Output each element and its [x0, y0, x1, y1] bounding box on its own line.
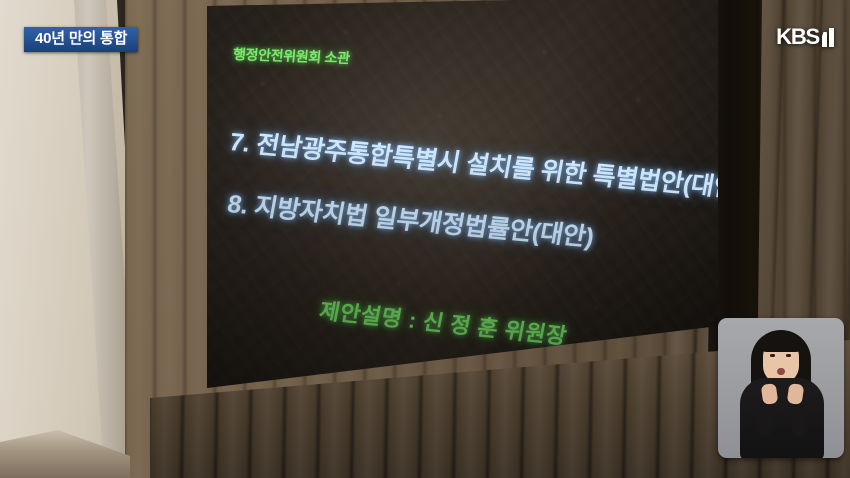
kbs-logo: KBS	[776, 26, 834, 48]
interpreter-fringe	[760, 332, 802, 352]
interpreter-body	[740, 378, 824, 458]
headline-badge: 40년 만의 통합	[24, 27, 138, 52]
interpreter-eye-left	[770, 354, 775, 357]
kbs-wordmark: KBS	[776, 26, 819, 48]
kbs1-channel-bars-icon	[822, 28, 834, 47]
sign-language-interpreter-box	[718, 318, 844, 458]
broadcast-screenshot: 행정안전위원회 소관 7. 전남광주통합특별시 설치를 위한 특별법안(대안) …	[0, 0, 850, 478]
kbs-bar-left	[822, 32, 827, 47]
interpreter-mouth	[777, 368, 785, 375]
interpreter-eye-right	[786, 354, 791, 357]
interpreter-hand-left	[761, 383, 779, 405]
kbs-bar-right	[829, 28, 834, 47]
